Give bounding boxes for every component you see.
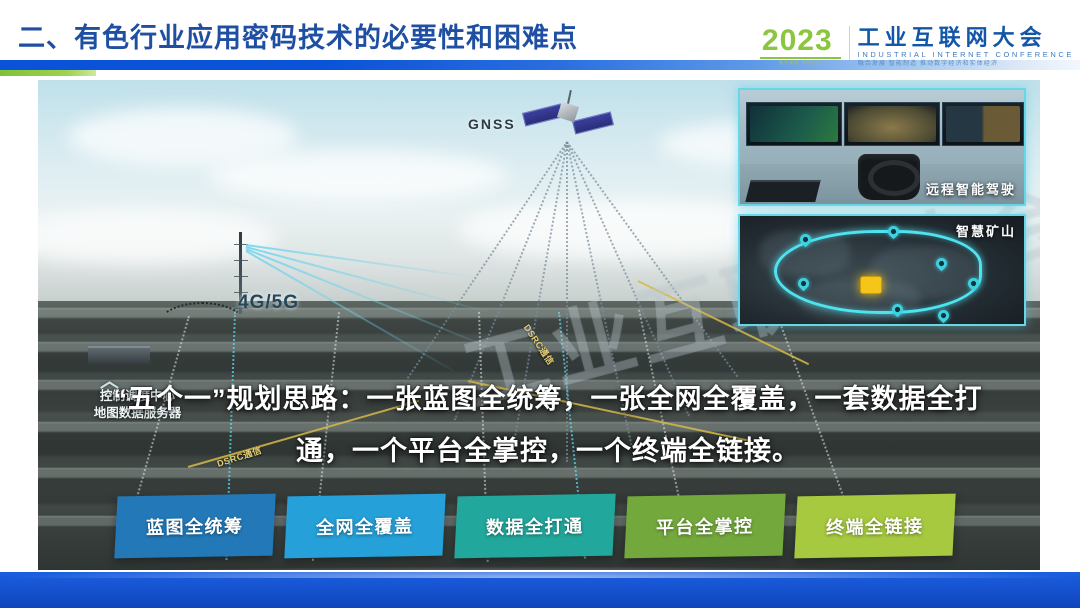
slide-root: 二、有色行业应用密码技术的必要性和困难点 2023 数字赋能 绿色引领 工业互联…: [0, 0, 1080, 608]
tag-label: 平台全掌控: [656, 512, 754, 540]
tower-crossbar: [234, 276, 248, 277]
tag-label: 终端全链接: [826, 512, 924, 540]
header-green-accent: [0, 70, 96, 76]
smart-mine-illustration: GNSS 4G/5G ︿ 控制调度中心 地图数据服务器: [38, 80, 1040, 570]
cloud-shape: [208, 150, 508, 202]
network-label-4g5g: 4G/5G: [238, 292, 299, 314]
satellite-solar-panel: [572, 111, 614, 134]
inset-remote-driving: 远程智能驾驶: [738, 88, 1026, 206]
mining-truck-marker: [860, 276, 882, 294]
logo-year-subtitle: 数字赋能 绿色引领: [760, 60, 841, 66]
logo-name-cn-subtitle: 融合发展 智能制造 推动数字经济和实体经济: [858, 60, 1074, 69]
monitor-right: [942, 102, 1024, 146]
monitor-left: [746, 102, 842, 146]
logo-text-block: 工业互联网大会 INDUSTRIAL INTERNET CONFERENCE 融…: [858, 26, 1074, 69]
page-title: 二、有色行业应用密码技术的必要性和困难点: [18, 16, 578, 55]
five-ones-tag-row: 蓝图全统筹 全网全覆盖 数据全打通 平台全掌控 终端全链接: [116, 495, 996, 570]
monitor-left-content: [750, 106, 838, 142]
inset-remote-driving-label: 远程智能驾驶: [926, 179, 1016, 198]
keyboard-icon: [745, 180, 820, 202]
slide-footer-bar: [0, 572, 1080, 608]
monitor-center-content: [848, 106, 936, 142]
inset-smart-mine: 智慧矿山: [738, 214, 1026, 326]
tag-label: 数据全打通: [486, 512, 584, 540]
gnss-satellite-icon: [523, 90, 613, 148]
logo-year: 2023: [760, 26, 841, 59]
logo-year-block: 2023 数字赋能 绿色引领: [760, 26, 841, 66]
steering-wheel-rig: [858, 154, 920, 200]
key-message-text: “五个一”规划思路：一张蓝图全统筹，一张全网全覆盖，一套数据全打通，一个平台全掌…: [108, 373, 988, 477]
logo-divider: [849, 26, 850, 60]
monitor-center: [844, 102, 940, 146]
tag-data: 数据全打通: [454, 494, 615, 559]
gnss-label: GNSS: [468, 116, 516, 132]
conference-logo: 2023 数字赋能 绿色引领 工业互联网大会 INDUSTRIAL INTERN…: [760, 26, 1074, 66]
tag-network: 全网全覆盖: [284, 494, 445, 559]
slide-header: 二、有色行业应用密码技术的必要性和困难点 2023 数字赋能 绿色引领 工业互联…: [0, 0, 1080, 72]
tag-label: 蓝图全统筹: [146, 512, 244, 540]
tower-crossbar: [234, 260, 248, 261]
tag-platform: 平台全掌控: [624, 494, 785, 559]
inset-smart-mine-label: 智慧矿山: [956, 221, 1016, 240]
tag-blueprint: 蓝图全统筹: [114, 494, 275, 559]
tag-terminal: 终端全链接: [794, 494, 955, 559]
tag-label: 全网全覆盖: [316, 512, 414, 540]
control-center-building: [88, 346, 150, 364]
logo-name-cn: 工业互联网大会: [858, 26, 1074, 50]
monitor-right-content: [946, 106, 1020, 142]
logo-name-en: INDUSTRIAL INTERNET CONFERENCE: [858, 50, 1074, 60]
